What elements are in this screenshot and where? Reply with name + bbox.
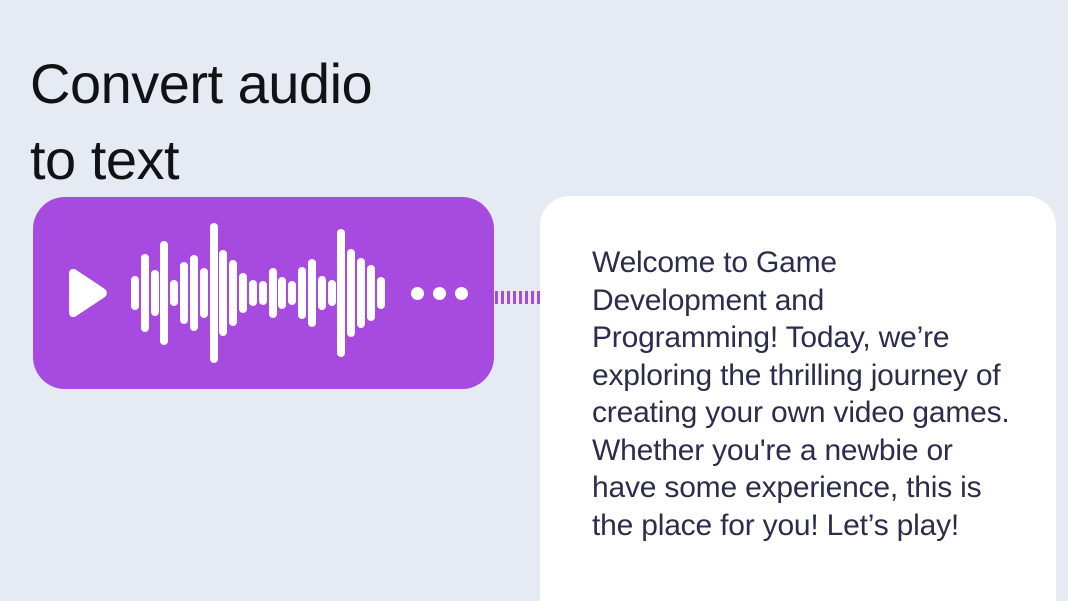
waveform-bar	[170, 280, 178, 306]
waveform-bar	[141, 254, 149, 332]
audio-waveform[interactable]	[127, 218, 389, 368]
waveform-bar	[318, 276, 326, 310]
waveform-bar	[190, 255, 198, 331]
connector-dash	[519, 291, 522, 304]
more-options-button[interactable]	[411, 287, 468, 300]
waveform-bar	[347, 249, 355, 337]
waveform-bar	[200, 268, 208, 318]
waveform-bar	[210, 223, 218, 363]
play-button[interactable]	[63, 267, 109, 319]
waveform-bar	[259, 281, 267, 305]
waveform-bar	[160, 241, 168, 345]
waveform-bar	[131, 276, 139, 310]
waveform-bar	[288, 281, 296, 305]
waveform-bar	[249, 280, 257, 306]
audio-player-card[interactable]	[33, 197, 494, 389]
connector-dash	[507, 291, 510, 304]
waveform-bar	[367, 265, 375, 321]
dot-icon	[433, 287, 446, 300]
connector-dash	[525, 291, 528, 304]
waveform-bar	[377, 277, 385, 309]
play-triangle-icon	[63, 267, 109, 319]
waveform-bar	[308, 259, 316, 327]
transcript-text: Welcome to Game Development and Programm…	[592, 244, 1016, 544]
waveform-bar	[278, 277, 286, 309]
waveform-bar	[239, 273, 247, 313]
transcript-card: Welcome to Game Development and Programm…	[540, 196, 1056, 601]
connector-dash	[531, 291, 534, 304]
waveform-bar	[337, 229, 345, 357]
connector-dashed-line	[495, 290, 543, 304]
connector-dash	[513, 291, 516, 304]
connector-dash	[501, 291, 504, 304]
waveform-bar	[298, 267, 306, 319]
connector-dash	[495, 291, 498, 304]
waveform-bar	[357, 258, 365, 328]
waveform-bar	[229, 260, 237, 326]
waveform-bar	[151, 270, 159, 316]
waveform-bar	[180, 262, 188, 324]
waveform-bar	[219, 250, 227, 336]
waveform-bar	[269, 268, 277, 318]
dot-icon	[455, 287, 468, 300]
slide-canvas: Convert audio to text Welcome to Game De…	[0, 0, 1068, 601]
page-title: Convert audio to text	[30, 46, 550, 198]
waveform-bar	[328, 280, 336, 306]
dot-icon	[411, 287, 424, 300]
